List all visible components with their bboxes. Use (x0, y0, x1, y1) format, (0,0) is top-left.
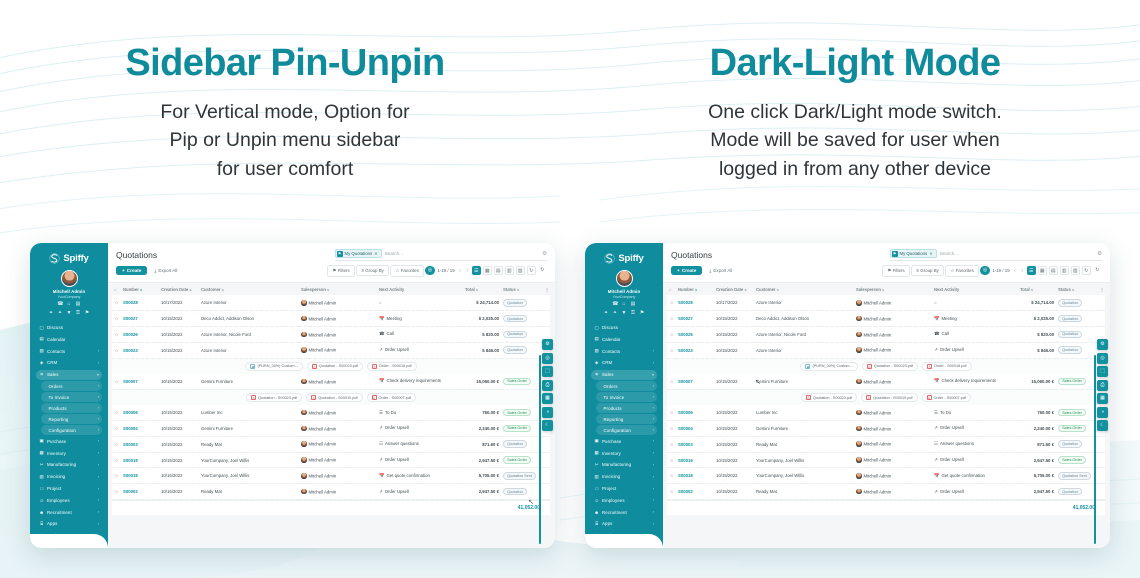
cell-total: 871.60 € (463, 436, 501, 452)
row-checkbox[interactable]: ○ (667, 452, 676, 468)
brand[interactable]: Spiffy (35, 250, 103, 268)
favorites-button[interactable]: ☆Favorites (945, 265, 979, 277)
app-screenshot-left: SpiffyMitchell AdminYourCompany☎⌂▤⚭⚭▼⚿⚑▢… (30, 243, 555, 548)
sidebar-item-sales[interactable]: ⌗Sales▾ (36, 370, 102, 380)
table-row[interactable]: ○S0002310/15/2022Azure InteriorMitchell … (667, 342, 1105, 358)
sort-icon: ⇅ (222, 288, 225, 292)
cell-number[interactable]: S00028 (121, 295, 159, 310)
group-by-label: Group By (920, 268, 939, 273)
cell-next-activity[interactable]: ☎Call (377, 326, 463, 342)
attachment-chip[interactable]: ▣(PURN_00%) Custom... (800, 362, 857, 372)
cell-salesperson: Mitchell Admin (299, 311, 377, 327)
sidebar-item-employees[interactable]: ☺Employees› (36, 495, 102, 505)
favorites-label: Favorites (401, 268, 419, 273)
cell-number[interactable]: S00004 (121, 421, 159, 437)
graph-view-icon[interactable]: ▨ (1071, 266, 1081, 276)
row-checkbox[interactable]: ○ (667, 374, 676, 389)
cell-number[interactable]: S00023 (121, 342, 159, 358)
attachment-chip[interactable]: AOrder - S00007.pdf (922, 393, 972, 403)
upsell-icon: ↗ (934, 489, 938, 494)
apps-icon: ⌸ (594, 521, 600, 526)
attachment-chip[interactable]: AQuotation - S00023.pdf (862, 362, 918, 372)
sidebar-item-crm[interactable]: ◈CRM› (591, 358, 657, 368)
sidebar-item-contacts[interactable]: ▧Contacts› (591, 346, 657, 356)
row-checkbox[interactable]: ○ (667, 436, 676, 452)
row-checkbox[interactable]: ○ (667, 468, 676, 484)
cell-next-activity[interactable]: 📅Check delivery requirements (377, 374, 463, 389)
attachment-chip[interactable]: AQuotation - S00023.pdf (801, 393, 857, 403)
attachment-chip[interactable]: ▣(PURN_00%) Custom... (245, 362, 302, 372)
table-row[interactable]: ○S0000610/15/2022Lumber IncMitchell Admi… (112, 405, 550, 420)
table-row[interactable]: ○S0000610/15/2022Lumber IncMitchell Admi… (667, 405, 1105, 420)
attachment-label: Quotation - S00023.pdf (813, 396, 852, 400)
table-row[interactable]: ○S0001810/15/2022YourCompany, Joel Willi… (667, 468, 1105, 484)
sidebar-item-to-invoice[interactable]: To Invoice› (41, 392, 102, 401)
sidebar-item-employees[interactable]: ☺Employees› (591, 495, 657, 505)
lock-icon[interactable]: ⚿ (75, 311, 81, 317)
cell-next-activity[interactable]: ○ (932, 295, 1018, 310)
kanban-view-icon[interactable]: ▦ (1038, 266, 1048, 276)
attachment-chip[interactable]: AQuotation - S00023.pdf (307, 362, 363, 372)
cell-number[interactable]: S00027 (121, 311, 159, 327)
user-profile[interactable]: Mitchell AdminYourCompany (590, 268, 658, 299)
cell-salesperson: Mitchell Admin (854, 342, 932, 358)
sidebar-item-inventory[interactable]: ▦Inventory› (36, 448, 102, 458)
cell-number[interactable]: S00003 (676, 436, 714, 452)
cell-number[interactable]: S00006 (676, 405, 714, 420)
cell-next-activity[interactable]: ↗Order Upsell (932, 342, 1018, 358)
quote-icon: 📅 (934, 473, 939, 478)
gear-icon[interactable]: ⚙ (1097, 251, 1102, 257)
cell-number[interactable]: S00023 (676, 342, 714, 358)
cell-next-activity[interactable]: 📅Get quote confirmation (377, 468, 463, 484)
status-badge: Sales Order (1058, 456, 1086, 464)
grand-total: 41,052.00 (112, 500, 550, 515)
cell-number[interactable]: S00007 (676, 374, 714, 389)
column-header-number[interactable]: Number⇅ (121, 283, 159, 296)
sort-icon: ⇅ (882, 288, 885, 292)
kanban-view-icon[interactable]: ▦ (483, 266, 493, 276)
attachment-chip[interactable]: AOrder - S00018.pdf (922, 362, 972, 372)
search-zoom-icon[interactable]: ◎ (542, 353, 553, 364)
cell-next-activity[interactable]: 📅Meeting (932, 311, 1018, 327)
cell-total: $ 820.00 (463, 326, 501, 342)
table-row[interactable]: ○S0001910/15/2022YourCompany, Joel Willi… (667, 452, 1105, 468)
status-badge: Quotation (503, 331, 527, 339)
sidebar-item-configuration[interactable]: Configuration› (41, 425, 102, 434)
table-row[interactable]: ○S0000410/15/2022Gemini FurnitureMitchel… (667, 421, 1105, 437)
cell-status: Quotation Sent (1056, 468, 1098, 484)
pivot-view-icon[interactable]: ▥ (1060, 266, 1070, 276)
table-row[interactable]: ○S0002810/17/2022Azure InteriorMitchell … (112, 295, 550, 310)
quick-icons-row-2: ⚭⚭▼⚿⚑ (35, 311, 103, 317)
status-badge: Quotation (503, 440, 527, 448)
create-button[interactable]: +Create (671, 266, 702, 275)
close-icon[interactable]: ✕ (929, 251, 932, 256)
sidebar-item-sales[interactable]: ⌗Sales▾ (591, 370, 657, 380)
table-row[interactable]: ○S0002610/15/2022Azure Interior, Nicole … (667, 326, 1105, 342)
sidebar-item-recruitment[interactable]: ☻Recruitment› (591, 507, 657, 517)
sidebar-item-label: Purchase (600, 439, 653, 444)
calendar-icon[interactable]: ▤ (75, 302, 81, 308)
sidebar-item-reporting[interactable]: Reporting› (41, 414, 102, 423)
table-row[interactable]: ○S0002610/15/2022Azure Interior, Nicole … (112, 326, 550, 342)
pin-icon[interactable]: ⚑ (639, 311, 645, 317)
cell-options (1098, 452, 1105, 468)
row-checkbox[interactable]: ○ (112, 436, 121, 452)
sidebar-item-manufacturing[interactable]: ✂Manufacturing› (36, 460, 102, 470)
column-header-total[interactable]: Total⇅ (463, 283, 501, 296)
sidebar-item-products[interactable]: Products› (41, 403, 102, 412)
row-checkbox[interactable]: ○ (667, 421, 676, 437)
export-all-button[interactable]: ⤓Export All (150, 266, 181, 275)
row-checkbox[interactable]: ○ (112, 295, 121, 310)
list-view-icon[interactable]: ☰ (472, 266, 482, 276)
lock-icon[interactable]: ⚿ (630, 311, 636, 317)
settings-gear-icon[interactable]: ⚙ (1097, 339, 1108, 350)
theme-icon[interactable]: ◑ (1097, 407, 1108, 418)
filters-label: Filters (338, 268, 350, 273)
column-header-options[interactable]: ⋮ (1098, 283, 1105, 296)
cell-number[interactable]: S00006 (121, 405, 159, 420)
cell-number[interactable]: S00003 (121, 436, 159, 452)
sidebar-item-to-invoice[interactable]: To Invoice› (596, 392, 657, 401)
brand[interactable]: Spiffy (590, 250, 658, 268)
sidebar-item-invoicing[interactable]: ▥Invoicing› (36, 472, 102, 482)
sidebar-item-reporting[interactable]: Reporting› (596, 414, 657, 423)
previous-page-button[interactable]: ‹ (1012, 268, 1018, 274)
todo-icon: ☰ (379, 410, 383, 415)
link-icon[interactable]: ⚭ (603, 311, 609, 317)
sidebar-item-label: Orders (44, 384, 98, 389)
attachment-chip[interactable]: AOrder - S00007.pdf (367, 393, 417, 403)
status-badge: Sales Order (1058, 409, 1086, 417)
column-header-creation-date[interactable]: Creation Date⇅ (714, 283, 754, 296)
attachment-chip[interactable]: AOrder - S00018.pdf (367, 362, 417, 372)
cell-next-activity[interactable]: ↗Order Upsell (932, 452, 1018, 468)
cell-number[interactable]: S00007 (121, 374, 159, 389)
filter-icon[interactable]: ▼ (621, 311, 627, 317)
attachment-chip[interactable]: AQuotation - S00010.pdf (306, 393, 362, 403)
row-checkbox[interactable]: ○ (667, 295, 676, 310)
cell-next-activity[interactable]: ↗Order Upsell (932, 421, 1018, 437)
cell-next-activity[interactable]: 📅Meeting (377, 311, 463, 327)
sidebar-item-calendar[interactable]: ▤Calendar (36, 334, 102, 344)
search-bar[interactable]: ⚑My Quotations✕Search...⚙ (890, 249, 1102, 261)
row-checkbox[interactable]: ○ (667, 311, 676, 327)
calendar-icon[interactable]: ▤ (630, 302, 636, 308)
column-header-customer[interactable]: Customer⇅ (754, 283, 854, 296)
attachment-chip[interactable]: AQuotation - S00023.pdf (246, 393, 302, 403)
user-profile[interactable]: Mitchell AdminYourCompany (35, 268, 103, 299)
activity-refresh-icon[interactable]: ↻ (1093, 266, 1103, 276)
sidebar-item-project[interactable]: □Project› (591, 483, 657, 493)
search-bar[interactable]: ⚑My Quotations✕Search...⚙ (335, 249, 547, 261)
chevron-right-icon: › (98, 349, 99, 353)
employees-icon: ☺ (594, 498, 600, 503)
sidebar-item-contacts[interactable]: ▧Contacts› (36, 346, 102, 356)
activity-refresh-icon[interactable]: ↻ (538, 266, 548, 276)
create-button-label: Create (127, 268, 142, 273)
calendar-view-icon[interactable]: ▤ (1049, 266, 1059, 276)
sidebar-item-invoicing[interactable]: ▥Invoicing› (591, 472, 657, 482)
column-header-customer[interactable]: Customer⇅ (199, 283, 299, 296)
cell-total: 2,947.50 € (1018, 484, 1056, 500)
cell-creation-date: 10/15/2022 (714, 326, 754, 342)
mouse-cursor: ↖ (528, 498, 534, 506)
row-checkbox[interactable]: ○ (667, 342, 676, 358)
table-row[interactable]: ○S0000310/15/2022Ready MatMitchell Admin… (667, 436, 1105, 452)
cell-number[interactable]: S00027 (676, 311, 714, 327)
table-row[interactable]: ○S0000710/15/2022Gemini FurnitureMitchel… (112, 374, 550, 389)
link-alt-icon[interactable]: ⚭ (57, 311, 63, 317)
table-row[interactable]: ○S0000310/15/2022Ready MatMitchell Admin… (112, 436, 550, 452)
search-input[interactable]: Search... (385, 251, 403, 256)
activity-view-icon[interactable]: ↻ (1082, 266, 1092, 276)
sidebar-item-label: Invoicing (600, 474, 653, 479)
export-all-button[interactable]: ⤓Export All (705, 266, 736, 275)
cell-next-activity[interactable]: ☷Answer questions (377, 436, 463, 452)
page-title-sidebar-pin-unpin: Sidebar Pin-Unpin (0, 43, 570, 84)
layout-icon[interactable]: ▦ (542, 393, 553, 404)
row-checkbox[interactable]: ○ (112, 342, 121, 358)
sidebar-item-label: Sales (45, 372, 98, 377)
cell-salesperson: Mitchell Admin (299, 452, 377, 468)
chevron-right-icon: › (98, 439, 99, 443)
sidebar-item-apps[interactable]: ⌸Apps› (591, 519, 657, 529)
table-row[interactable]: ○S0002810/17/2022Azure InteriorMitchell … (667, 295, 1105, 310)
refresh-button[interactable]: ◎ (980, 266, 990, 276)
sidebar-item-purchase[interactable]: ▣Purchase› (36, 436, 102, 446)
quotations-table-container[interactable]: ○Number⇅Creation Date⇅Customer⇅Salespers… (108, 283, 555, 548)
cell-next-activity[interactable]: ☎Call (932, 326, 1018, 342)
cell-options (1098, 436, 1105, 452)
sidebar-item-apps[interactable]: ⌸Apps› (36, 519, 102, 529)
expand-icon[interactable]: ⬚ (542, 366, 553, 377)
sidebar-item-discuss[interactable]: ▢Discuss (36, 323, 102, 333)
chevron-down-icon: ▾ (652, 373, 654, 377)
group-by-button[interactable]: ≡Group By (356, 265, 389, 276)
cell-number[interactable]: S00019 (676, 452, 714, 468)
quotations-table-container[interactable]: ○Number⇅Creation Date⇅Customer⇅Salespers… (663, 283, 1110, 548)
sidebar-item-project[interactable]: □Project› (36, 483, 102, 493)
home-icon[interactable]: ⌂ (621, 302, 627, 308)
previous-page-button[interactable]: ‹ (457, 268, 463, 274)
column-header-status[interactable]: Status⇅ (1056, 283, 1098, 296)
cell-total: 15,060.00 € (463, 374, 501, 389)
sidebar-item-discuss[interactable]: ▢Discuss (591, 323, 657, 333)
cell-number[interactable]: S00026 (676, 326, 714, 342)
filters-button[interactable]: ⚑Filters (327, 265, 354, 277)
sidebar-item-inventory[interactable]: ▦Inventory› (591, 448, 657, 458)
sidebar-item-manufacturing[interactable]: ✂Manufacturing› (591, 460, 657, 470)
sidebar-item-orders[interactable]: Orders› (41, 381, 102, 390)
home-icon[interactable]: ⌂ (66, 302, 72, 308)
cell-next-activity[interactable]: ↗Order Upsell (377, 342, 463, 358)
table-row[interactable]: ○S0002710/15/2022Deco Addict, Addison Ol… (667, 311, 1105, 327)
cell-salesperson: Mitchell Admin (854, 326, 932, 342)
row-checkbox[interactable]: ○ (112, 421, 121, 437)
search-input[interactable]: Search... (940, 251, 958, 256)
select-all-checkbox[interactable]: ○ (112, 283, 121, 296)
table-row[interactable]: ○S0000210/15/2022Ready MatMitchell Admin… (112, 484, 550, 500)
cell-options (543, 436, 550, 452)
column-header-status[interactable]: Status⇅ (501, 283, 543, 296)
upsell-icon: ↗ (934, 457, 938, 462)
column-header-number[interactable]: Number⇅ (676, 283, 714, 296)
column-header-salesperson[interactable]: Salesperson⇅ (299, 283, 377, 296)
cell-next-activity[interactable]: ☰To Do (932, 405, 1018, 420)
table-row[interactable]: ○S0000410/15/2022Gemini FurnitureMitchel… (112, 421, 550, 437)
pivot-view-icon[interactable]: ▥ (505, 266, 515, 276)
settings-gear-icon[interactable]: ⚙ (542, 339, 553, 350)
chevron-right-icon: › (653, 498, 654, 502)
cell-status: Quotation (1056, 342, 1098, 358)
column-header-salesperson[interactable]: Salesperson⇅ (854, 283, 932, 296)
calendar-view-icon[interactable]: ▤ (494, 266, 504, 276)
sidebar-item-recruitment[interactable]: ☻Recruitment› (36, 507, 102, 517)
inventory-icon: ▦ (594, 450, 600, 456)
search-zoom-icon[interactable]: ◎ (1097, 353, 1108, 364)
row-checkbox[interactable]: ○ (112, 452, 121, 468)
table-row[interactable]: ○S0000210/15/2022Ready MatMitchell Admin… (667, 484, 1105, 500)
next-page-button[interactable]: › (464, 268, 470, 274)
table-row[interactable]: ○S0001810/15/2022YourCompany, Joel Willi… (112, 468, 550, 484)
cell-next-activity[interactable]: 📅Check delivery requirements (932, 374, 1018, 389)
dark-mode-toggle-icon[interactable]: ☾ (542, 420, 553, 431)
sidebar-item-label: Calendar (45, 337, 100, 342)
cell-customer: Gemini Furniture (199, 421, 299, 437)
sidebar-item-products[interactable]: Products› (596, 403, 657, 412)
phone-icon[interactable]: ☎ (612, 302, 618, 308)
cell-creation-date: 10/15/2022 (159, 342, 199, 358)
gear-icon[interactable]: ⚙ (542, 251, 547, 257)
cell-number[interactable]: S00004 (676, 421, 714, 437)
select-all-checkbox[interactable]: ○ (667, 283, 676, 296)
row-checkbox[interactable]: ○ (667, 484, 676, 500)
table-row[interactable]: ○S0001910/15/2022YourCompany, Joel Willi… (112, 452, 550, 468)
expand-icon[interactable]: ⬚ (1097, 366, 1108, 377)
column-header-options[interactable]: ⋮ (543, 283, 550, 296)
cell-creation-date: 10/15/2022 (159, 468, 199, 484)
manufacturing-icon: ✂ (39, 462, 45, 468)
cell-number[interactable]: S00028 (676, 295, 714, 310)
link-alt-icon[interactable]: ⚭ (612, 311, 618, 317)
filters-button[interactable]: ⚑Filters (882, 265, 909, 277)
row-checkbox[interactable]: ○ (112, 468, 121, 484)
cell-next-activity[interactable]: 📅Get quote confirmation (932, 468, 1018, 484)
sidebar-item-crm[interactable]: ◈CRM› (36, 358, 102, 368)
row-checkbox[interactable]: ○ (112, 374, 121, 389)
row-checkbox[interactable]: ○ (112, 405, 121, 420)
cell-number[interactable]: S00026 (121, 326, 159, 342)
sidebar-item-configuration[interactable]: Configuration› (596, 425, 657, 434)
pdf-file-icon: A (927, 364, 932, 370)
status-badge: Quotation (1058, 315, 1082, 323)
subtitle-line: One click Dark/Light mode switch. (570, 98, 1140, 126)
table-row[interactable]: ○S0002710/15/2022Deco Addict, Addison Ol… (112, 311, 550, 327)
row-checkbox[interactable]: ○ (667, 326, 676, 342)
cell-total: 2,240.00 € (463, 421, 501, 437)
layout-icon[interactable]: ▦ (1097, 393, 1108, 404)
sidebar-item-orders[interactable]: Orders› (596, 381, 657, 390)
cell-next-activity[interactable]: ☰To Do (377, 405, 463, 420)
scrollbar[interactable] (1094, 355, 1096, 544)
cell-total: 15,060.00 € (1018, 374, 1056, 389)
cell-number[interactable]: S00019 (121, 452, 159, 468)
create-button[interactable]: +Create (116, 266, 147, 275)
search-facet[interactable]: ⚑My Quotations✕ (335, 249, 382, 258)
pin-icon[interactable]: ⚑ (84, 311, 90, 317)
sidebar-item-label: Sales (600, 372, 653, 377)
cell-salesperson: Mitchell Admin (854, 484, 932, 500)
cell-next-activity[interactable]: ↗Order Upsell (377, 484, 463, 500)
cell-number[interactable]: S00002 (121, 484, 159, 500)
row-checkbox[interactable]: ○ (667, 405, 676, 420)
filter-icon[interactable]: ▼ (66, 311, 72, 317)
refresh-button[interactable]: ◎ (425, 266, 435, 276)
column-header-next-activity[interactable]: Next Activity (377, 283, 463, 296)
cell-next-activity[interactable]: ○ (377, 295, 463, 310)
chevron-right-icon: › (653, 439, 654, 443)
pagination-label: 1-19 / 19 (991, 268, 1010, 273)
cell-next-activity[interactable]: ↗Order Upsell (377, 421, 463, 437)
cell-next-activity[interactable]: ↗Order Upsell (377, 452, 463, 468)
sidebar-item-calendar[interactable]: ▤Calendar (591, 334, 657, 344)
group-by-button[interactable]: ≡Group By (911, 265, 944, 276)
graph-view-icon[interactable]: ▨ (516, 266, 526, 276)
dark-mode-toggle-icon[interactable]: ☾ (1097, 420, 1108, 431)
phone-icon[interactable]: ☎ (57, 302, 63, 308)
search-facet[interactable]: ⚑My Quotations✕ (890, 249, 937, 258)
row-checkbox[interactable]: ○ (112, 326, 121, 342)
subtitle-line: logged in from any other device (570, 155, 1140, 183)
print-icon[interactable]: ⎙ (1097, 380, 1108, 391)
sidebar-item-purchase[interactable]: ▣Purchase› (591, 436, 657, 446)
cell-customer: Lumber Inc (754, 405, 854, 420)
cell-number[interactable]: S00018 (121, 468, 159, 484)
quotations-table: ○Number⇅Creation Date⇅Customer⇅Salespers… (667, 283, 1105, 500)
scrollbar[interactable] (539, 355, 541, 544)
cell-next-activity[interactable]: ↗Order Upsell (932, 484, 1018, 500)
column-header-creation-date[interactable]: Creation Date⇅ (159, 283, 199, 296)
attachment-chip[interactable]: AQuotation - S00010.pdf (861, 393, 917, 403)
cell-number[interactable]: S00018 (676, 468, 714, 484)
cell-customer: Deco Addict, Addison Olson (199, 311, 299, 327)
column-header-next-activity[interactable]: Next Activity (932, 283, 1018, 296)
table-row[interactable]: ○S0000710/15/2022Gemini FurnitureMitchel… (667, 374, 1105, 389)
cell-salesperson: Mitchell Admin (854, 421, 932, 437)
plus-icon: + (122, 268, 125, 273)
cell-salesperson: Mitchell Admin (299, 405, 377, 420)
cell-number[interactable]: S00002 (676, 484, 714, 500)
cell-next-activity[interactable]: ☷Answer questions (932, 436, 1018, 452)
sidebar-item-label: Discuss (600, 325, 655, 330)
row-checkbox[interactable]: ○ (112, 311, 121, 327)
list-view-icon[interactable]: ☰ (1027, 266, 1037, 276)
close-icon[interactable]: ✕ (374, 251, 377, 256)
theme-icon[interactable]: ◑ (542, 407, 553, 418)
row-checkbox[interactable]: ○ (112, 484, 121, 500)
next-page-button[interactable]: › (1019, 268, 1025, 274)
link-icon[interactable]: ⚭ (48, 311, 54, 317)
activity-view-icon[interactable]: ↻ (527, 266, 537, 276)
view-title: Quotations (671, 250, 712, 260)
print-icon[interactable]: ⎙ (542, 380, 553, 391)
table-row[interactable]: ○S0002310/15/2022Azure InteriorMitchell … (112, 342, 550, 358)
favorites-button[interactable]: ☆Favorites (390, 265, 424, 277)
column-header-total[interactable]: Total⇅ (1018, 283, 1056, 296)
